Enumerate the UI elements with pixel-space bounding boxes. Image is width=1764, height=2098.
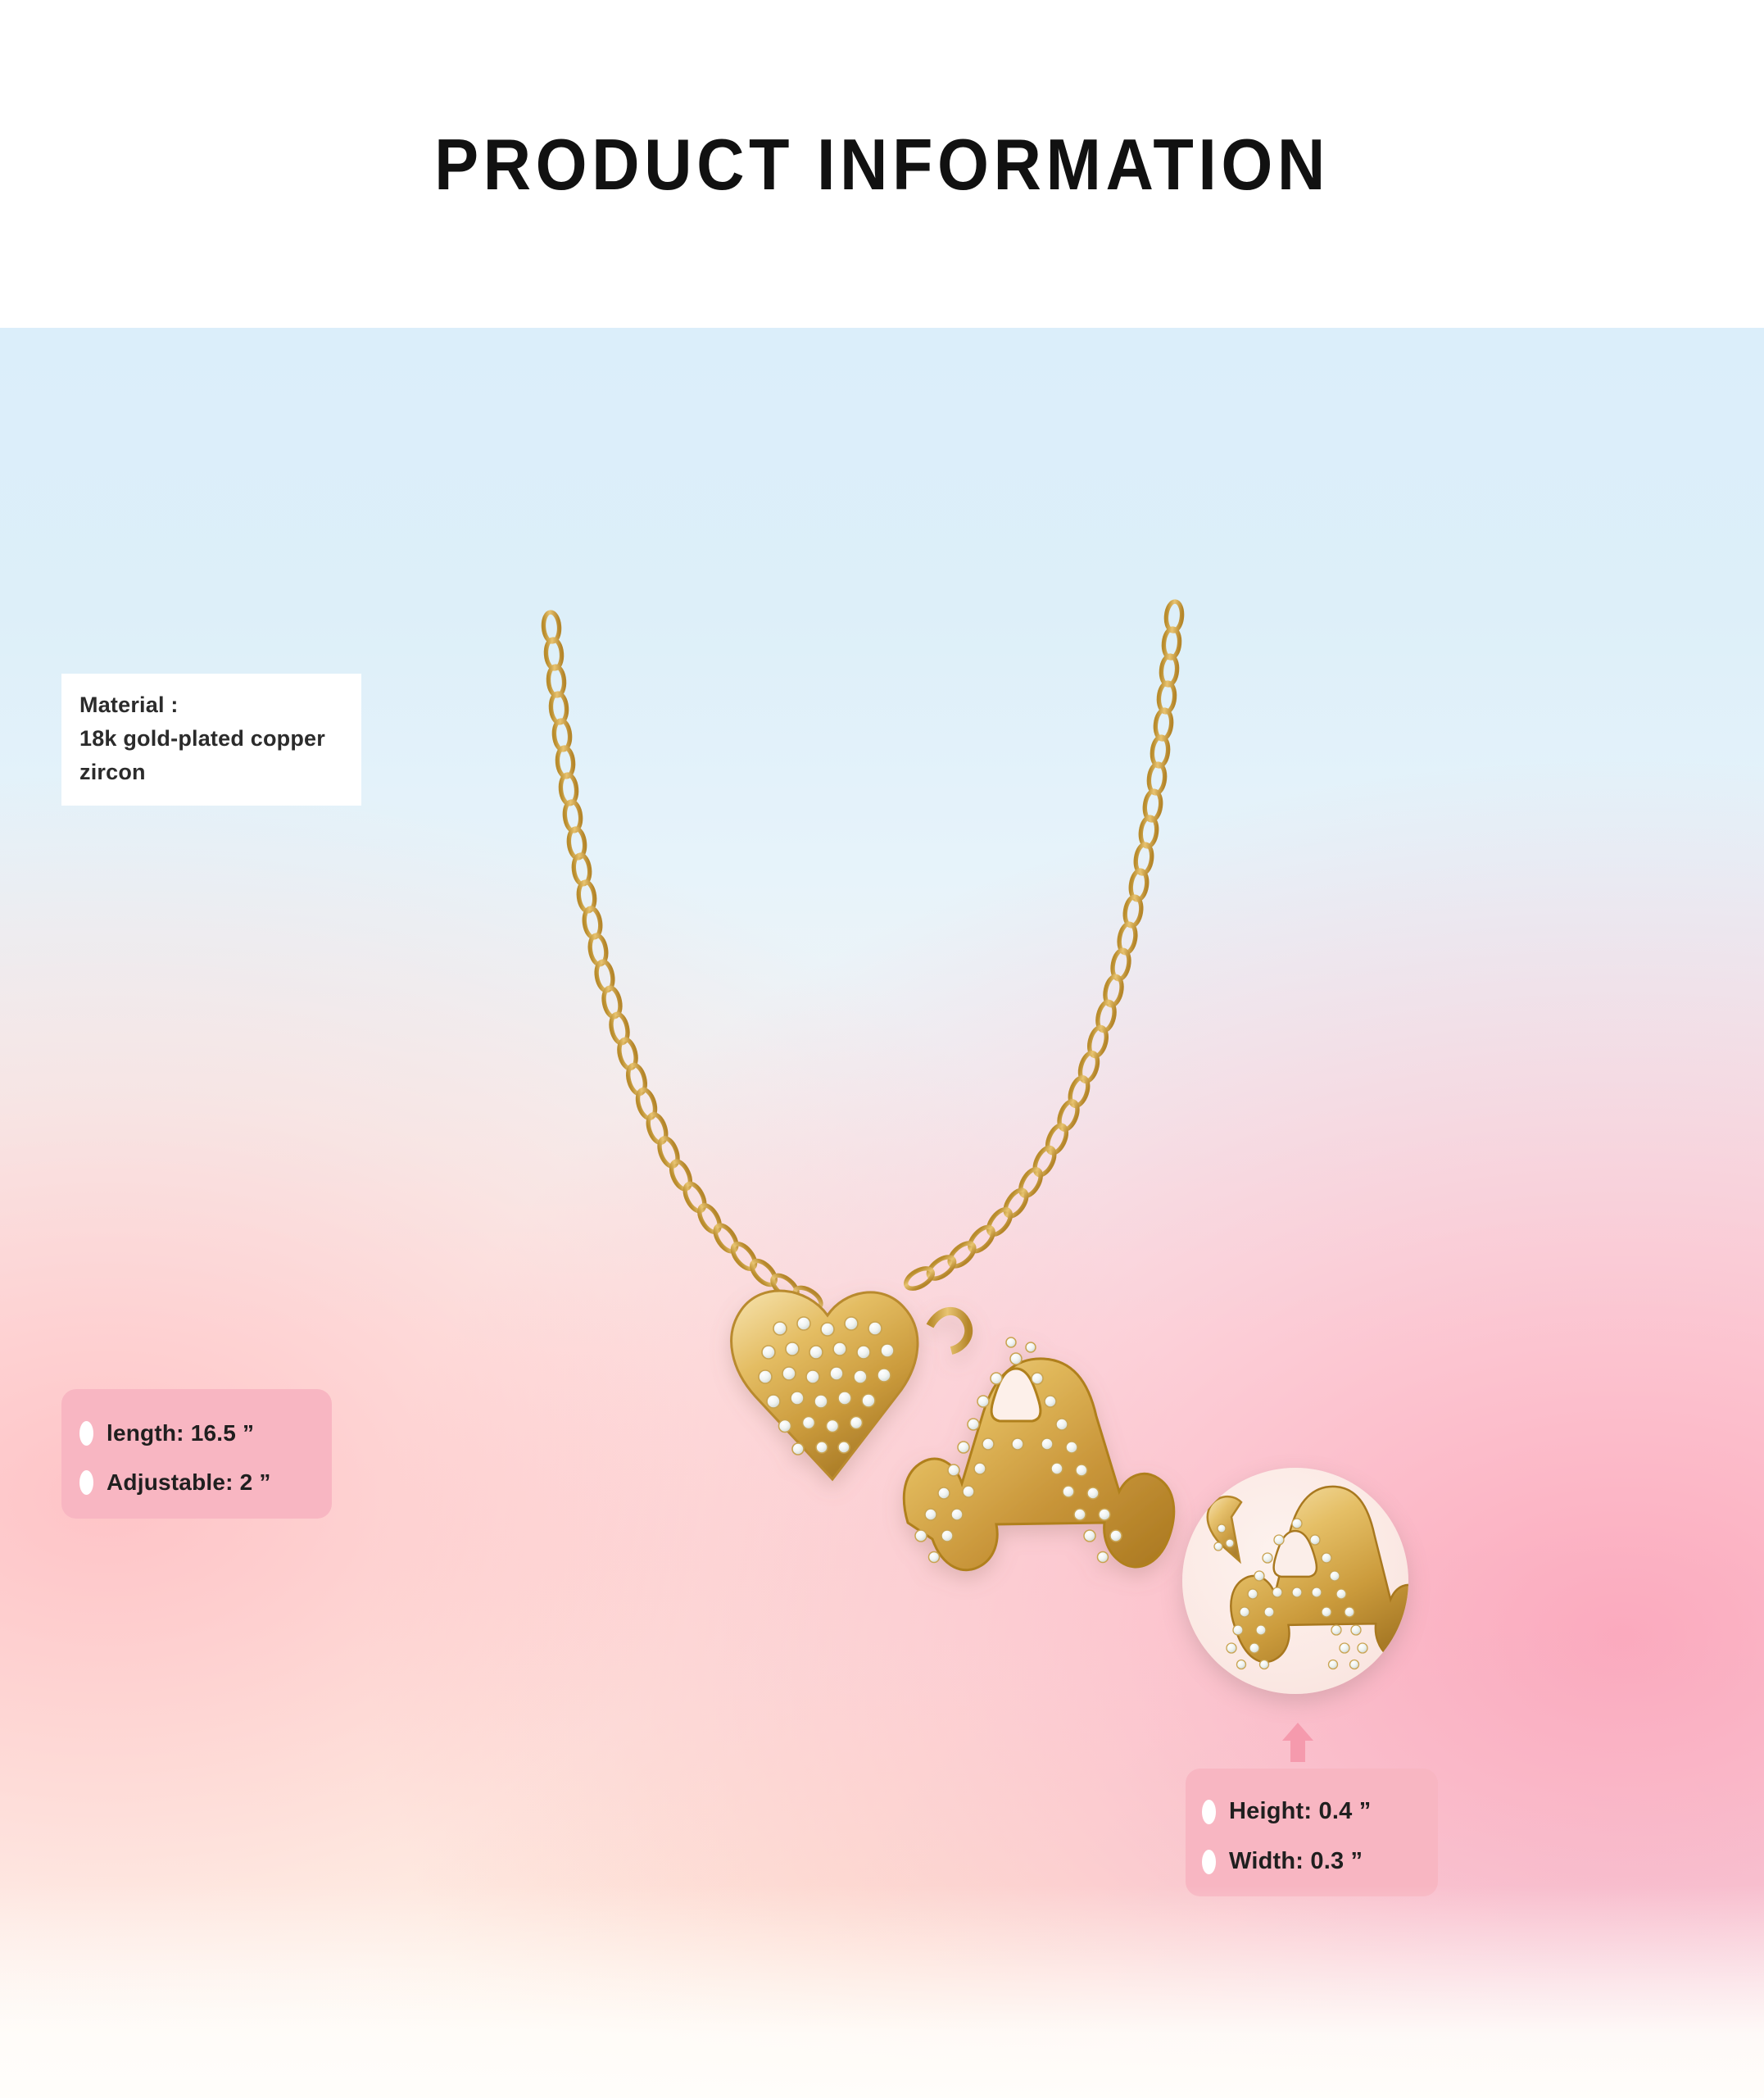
material-value-line-1: 18k gold-plated copper	[79, 722, 345, 756]
necklace-illustration	[0, 328, 1764, 2098]
charm-detail-zoom-circle	[1182, 1468, 1408, 1694]
oval-bullet-icon	[1202, 1800, 1216, 1824]
product-information-page: PRODUCT INFORMATION	[0, 0, 1764, 2098]
material-value-line-2: zircon	[79, 756, 345, 789]
height-row: Height: 0.4 ”	[1202, 1798, 1425, 1825]
chain-left	[542, 611, 824, 1312]
material-label: Material :	[79, 688, 345, 722]
arrow-up-icon	[1281, 1721, 1315, 1764]
width-row: Width: 0.3 ”	[1202, 1848, 1425, 1875]
page-header: PRODUCT INFORMATION	[0, 0, 1764, 328]
width-value: Width: 0.3 ”	[1229, 1848, 1363, 1875]
page-title: PRODUCT INFORMATION	[70, 123, 1694, 207]
material-info-card: Material : 18k gold-plated copper zircon	[61, 674, 361, 806]
chain-right	[903, 601, 1183, 1292]
oval-bullet-icon	[1202, 1850, 1216, 1874]
oval-bullet-icon	[79, 1421, 93, 1446]
product-photo-stage: Material : 18k gold-plated copper zircon…	[0, 328, 1764, 2098]
length-info-card: length: 16.5 ” Adjustable: 2 ”	[61, 1389, 332, 1519]
adjustable-row: Adjustable: 2 ”	[79, 1469, 317, 1496]
length-value: length: 16.5 ”	[107, 1420, 254, 1446]
heart-charm	[732, 1291, 918, 1479]
dimensions-info-card: Height: 0.4 ” Width: 0.3 ”	[1186, 1769, 1438, 1896]
oval-bullet-icon	[79, 1470, 93, 1495]
height-value: Height: 0.4 ”	[1229, 1798, 1371, 1825]
adjustable-value: Adjustable: 2 ”	[107, 1469, 271, 1496]
length-row: length: 16.5 ”	[79, 1420, 317, 1446]
letter-a-charm	[904, 1311, 1173, 1570]
